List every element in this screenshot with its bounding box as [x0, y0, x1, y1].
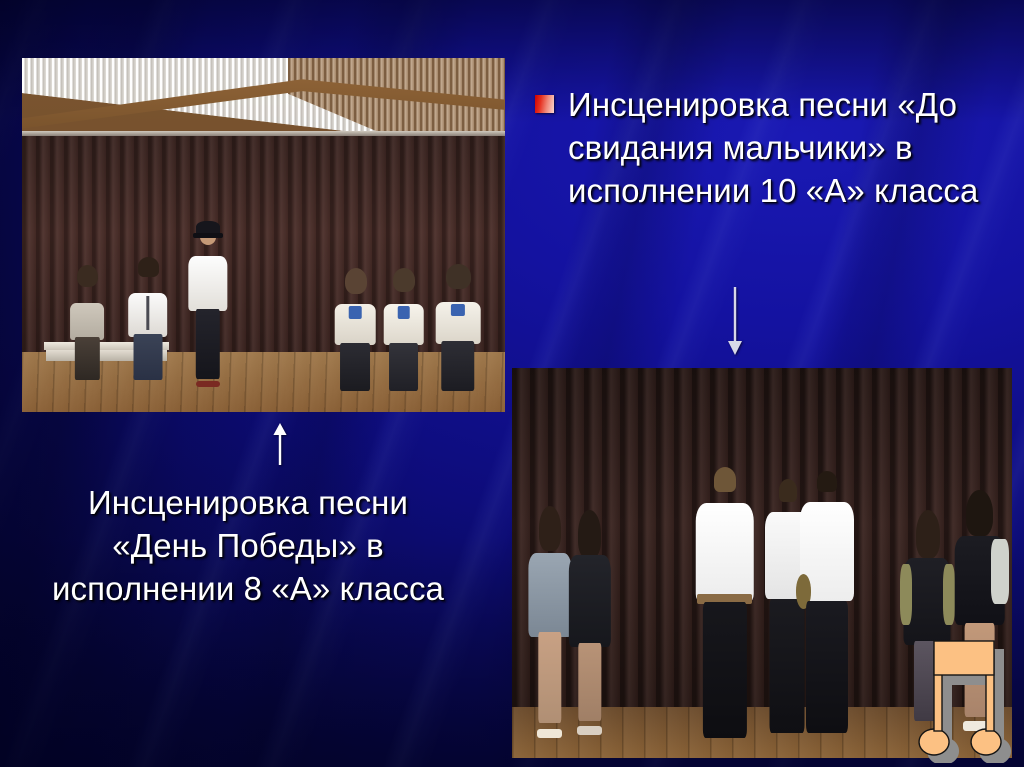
bullet-text-goodbye-boys: Инсценировка песни «До свидания мальчики…	[568, 83, 988, 213]
music-note-icon	[902, 633, 1014, 763]
square-bullet-icon	[535, 95, 554, 113]
arrow-up-icon	[268, 421, 292, 465]
arrow-down-icon	[722, 287, 748, 357]
person-figure	[181, 221, 234, 387]
person-figure	[692, 469, 757, 746]
photo-stage-day-of-victory-content	[22, 58, 505, 412]
person-figure	[797, 473, 857, 738]
person-figure	[567, 516, 612, 734]
presentation-slide: Инсценировка песни «До свидания мальчики…	[0, 0, 1024, 767]
person-figure	[527, 512, 572, 738]
person-figure	[379, 270, 427, 390]
photo-stage-day-of-victory	[22, 58, 505, 412]
caption-day-of-victory: Инсценировка песни «День Победы» в испол…	[48, 481, 448, 611]
person-figure	[65, 267, 108, 380]
person-figure	[123, 260, 171, 380]
person-figure	[331, 270, 379, 390]
person-figure	[433, 267, 484, 391]
